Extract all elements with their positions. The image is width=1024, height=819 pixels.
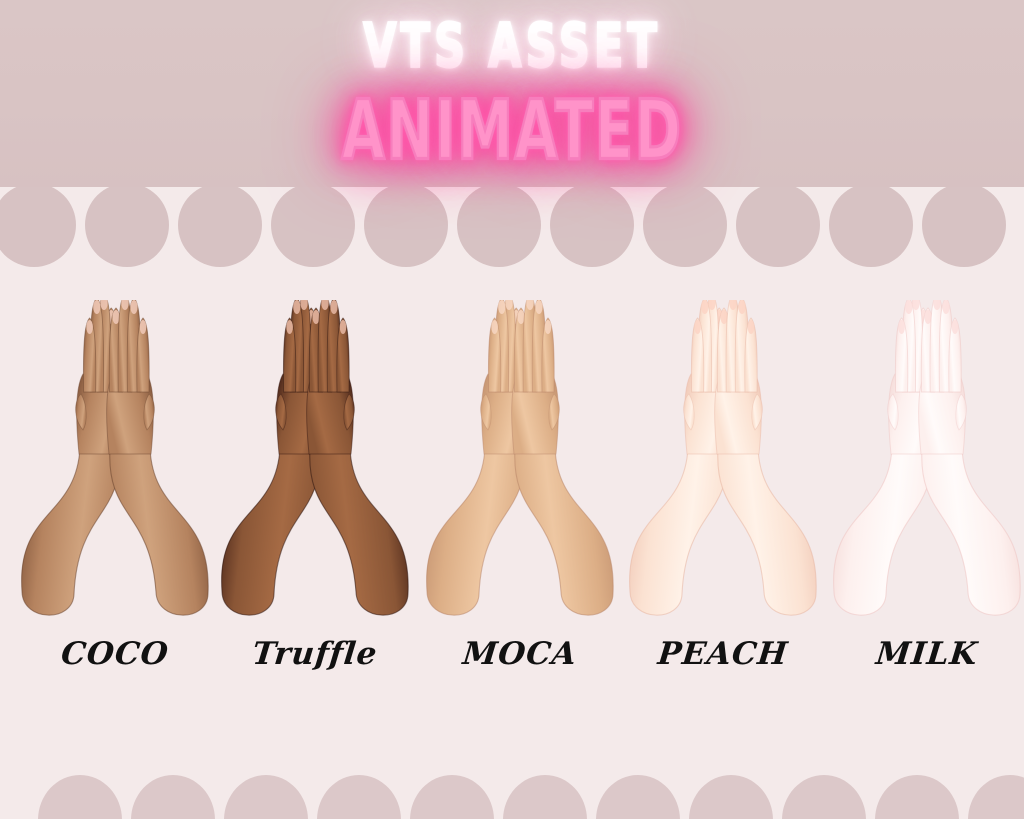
scallop-shape xyxy=(829,183,913,267)
hand-asset-milk[interactable] xyxy=(812,300,1024,630)
tone-label-milk: MILK xyxy=(810,636,1024,672)
fingernail-shape xyxy=(545,320,552,334)
fingernail-shape xyxy=(140,320,147,334)
hand-asset-truffle[interactable] xyxy=(200,300,430,630)
hand-asset-peach[interactable] xyxy=(608,300,838,630)
tone-label-truffle: Truffle xyxy=(198,636,432,672)
scallop-shape xyxy=(503,775,587,819)
scallop-shape xyxy=(271,183,355,267)
hand-asset-moca[interactable] xyxy=(405,300,635,630)
scallop-shape xyxy=(736,183,820,267)
forearm-shape xyxy=(834,300,936,615)
bottom-scallop-trim xyxy=(0,779,1024,819)
fingernail-shape xyxy=(286,320,293,334)
fingernail-shape xyxy=(293,300,300,314)
scallop-shape xyxy=(922,183,1006,267)
scallop-shape xyxy=(782,775,866,819)
fingernail-shape xyxy=(952,320,959,334)
forearm-shape xyxy=(107,300,209,615)
asset-preview-canvas: VTS ASSET ANIMATED COCOTruffleMOCAPEACHM… xyxy=(0,0,1024,819)
forearm-shape xyxy=(307,300,409,615)
fingernail-shape xyxy=(491,320,498,334)
fingernail-shape xyxy=(93,300,100,314)
fingernail-shape xyxy=(701,300,708,314)
fingernail-shape xyxy=(738,300,745,314)
fingernail-shape xyxy=(498,300,505,314)
fingernail-shape xyxy=(340,320,347,334)
scallop-shape xyxy=(457,183,541,267)
scallop-shape xyxy=(364,183,448,267)
scallop-shape xyxy=(596,775,680,819)
arm-pair-illustration xyxy=(812,300,1024,630)
scallop-shape xyxy=(643,183,727,267)
fingernail-shape xyxy=(748,320,755,334)
scallop-shape xyxy=(178,183,262,267)
top-scallop-trim xyxy=(0,183,1024,229)
fingernail-shape xyxy=(905,300,912,314)
forearm-shape xyxy=(919,300,1021,615)
scallop-shape xyxy=(410,775,494,819)
page-subtitle: ANIMATED xyxy=(143,90,880,172)
fingernail-shape xyxy=(898,320,905,334)
fingernail-shape xyxy=(86,320,93,334)
scallop-shape xyxy=(875,775,959,819)
forearm-shape xyxy=(22,300,124,615)
scallop-shape xyxy=(85,183,169,267)
scallop-shape xyxy=(224,775,308,819)
scallop-shape xyxy=(317,775,401,819)
scallop-shape xyxy=(550,183,634,267)
arm-pair-illustration xyxy=(608,300,838,630)
forearm-shape xyxy=(630,300,732,615)
page-title: VTS ASSET xyxy=(102,16,921,76)
scallop-shape xyxy=(968,775,1024,819)
arm-pair-illustration xyxy=(0,300,230,630)
fingernail-shape xyxy=(942,300,949,314)
forearm-shape xyxy=(512,300,614,615)
hand-asset-coco[interactable] xyxy=(0,300,230,630)
scallop-shape xyxy=(38,775,122,819)
fingernail-shape xyxy=(330,300,337,314)
scallop-shape xyxy=(689,775,773,819)
fingernail-shape xyxy=(535,300,542,314)
tone-label-peach: PEACH xyxy=(606,636,840,672)
fingernail-shape xyxy=(694,320,701,334)
forearm-shape xyxy=(222,300,324,615)
scallop-shape xyxy=(131,775,215,819)
forearm-shape xyxy=(427,300,529,615)
arm-pair-illustration xyxy=(200,300,430,630)
fingernail-shape xyxy=(130,300,137,314)
forearm-shape xyxy=(715,300,817,615)
tone-label-coco: COCO xyxy=(0,636,232,672)
tone-label-moca: MOCA xyxy=(403,636,637,672)
arm-pair-illustration xyxy=(405,300,635,630)
